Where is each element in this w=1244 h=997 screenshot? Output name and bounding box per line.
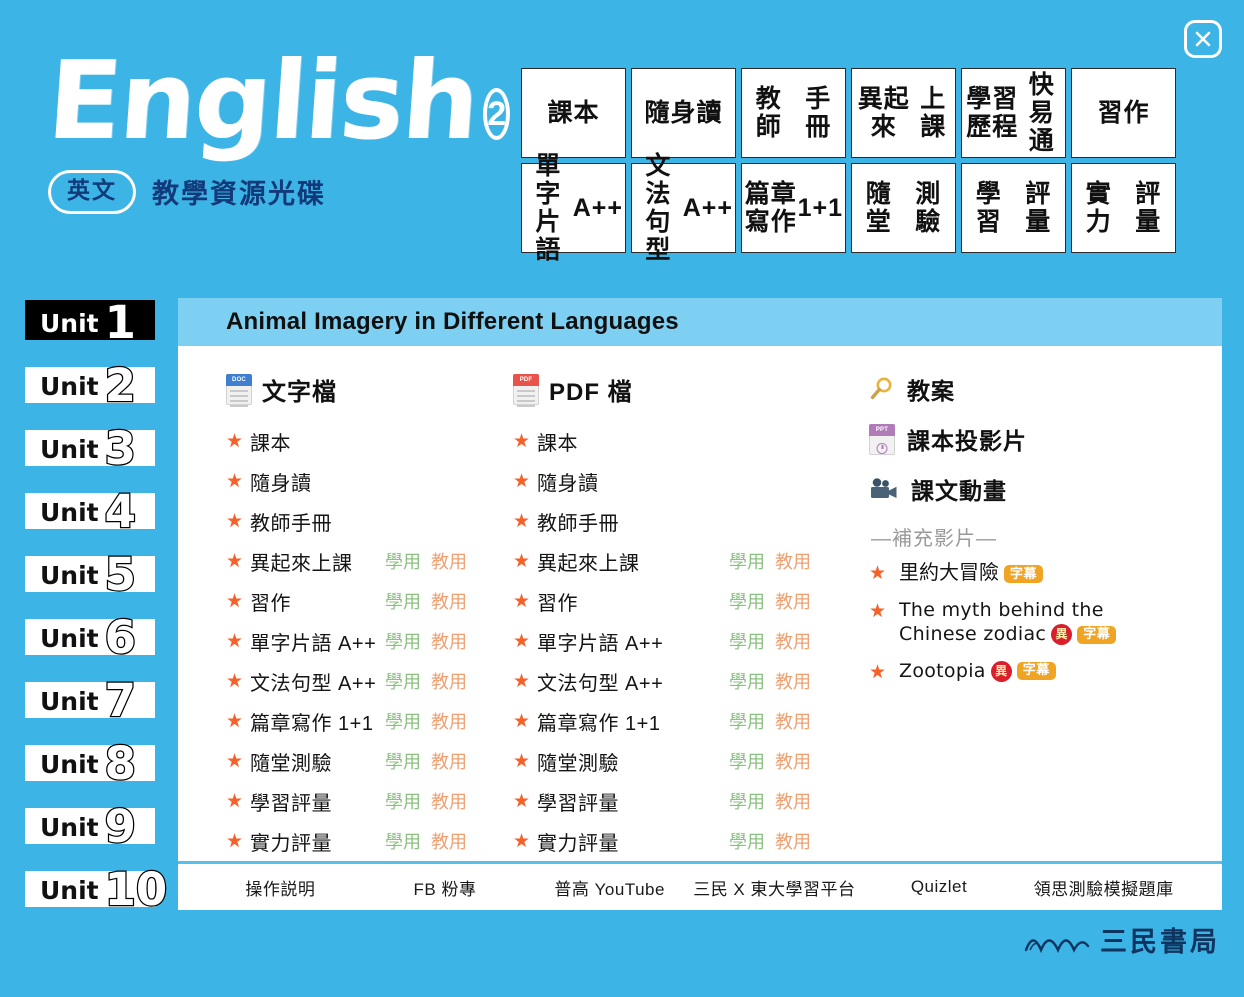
tag-teacher[interactable]: 教用	[775, 548, 811, 574]
nav-label-line: 學習歷程	[964, 85, 1021, 141]
unit-label: Unit	[40, 372, 99, 401]
nav-portable-read[interactable]: 隨身讀	[631, 68, 736, 158]
unit-number: 9	[105, 807, 136, 848]
nav-grammar[interactable]: 文法句型A++	[631, 163, 736, 253]
unit-number: 10	[105, 870, 168, 911]
list-item[interactable]: ★隨身讀	[226, 461, 503, 501]
star-icon: ★	[513, 552, 537, 571]
star-icon: ★	[226, 832, 250, 851]
list-item[interactable]: ★教師手冊	[226, 501, 503, 541]
lesson-plan-label: 教案	[907, 372, 955, 406]
content-panel: Animal Imagery in Different Languages DO…	[178, 298, 1222, 910]
row-tags: 學用教用	[729, 748, 841, 774]
nav-label-line: 快易通	[1021, 71, 1063, 155]
video-title: The myth behind the Chinese zodiac	[899, 599, 1104, 645]
nav-label-line: 隨身讀	[644, 99, 722, 127]
nav-label-line: 上課	[913, 85, 953, 141]
row-tags: 學用教用	[729, 708, 841, 734]
star-icon: ★	[869, 602, 889, 621]
tag-student[interactable]: 學用	[729, 748, 765, 774]
star-icon: ★	[513, 472, 537, 491]
unit-label: Unit	[40, 813, 99, 842]
unit-number: 8	[105, 744, 136, 785]
list-item-label: 隨身讀	[537, 467, 599, 496]
list-item[interactable]: ★隨身讀	[513, 461, 841, 501]
star-icon: ★	[226, 432, 250, 451]
close-icon	[1194, 30, 1212, 48]
close-button[interactable]	[1184, 20, 1222, 58]
unit-label: Unit	[40, 687, 99, 716]
lesson-plan-item[interactable]: 教案	[869, 372, 1222, 406]
nav-label-line: 評量	[1014, 180, 1064, 236]
list-item-label: 課本	[537, 427, 578, 456]
list-item-label: 隨堂測驗	[250, 747, 332, 776]
star-icon: ★	[869, 663, 889, 682]
doc-file-icon: DOC	[226, 374, 252, 405]
nav-learning-log[interactable]: 學習歷程快易通	[961, 68, 1066, 158]
footer-link[interactable]: 操作説明	[198, 875, 363, 900]
list-item-label: 篇章寫作 1+1	[250, 707, 373, 736]
nav-label-line: 評量	[1124, 180, 1174, 236]
nav-label-line: 測驗	[904, 180, 954, 236]
nav-quiz[interactable]: 隨堂測驗	[851, 163, 956, 253]
unit-number: 3	[105, 429, 136, 470]
unit-number: 7	[105, 681, 136, 722]
tag-student[interactable]: 學用	[385, 828, 421, 854]
unit-label: Unit	[40, 624, 99, 653]
tag-student[interactable]: 學用	[385, 668, 421, 694]
row-tags: 學用教用	[729, 548, 841, 574]
column-doc-title: 文字檔	[262, 372, 337, 407]
list-item[interactable]: ★學習評量學用教用	[226, 781, 503, 821]
nav-label-line: 手冊	[794, 85, 844, 141]
star-icon: ★	[513, 592, 537, 611]
video-list-item[interactable]: ★里約大冒險字幕	[869, 561, 1222, 586]
sidebar-item-unit-1[interactable]: Unit1	[0, 296, 180, 350]
star-icon: ★	[513, 432, 537, 451]
column-doc: DOC 文字檔 ★課本★隨身讀★教師手冊★異起來上課學用教用★習作學用教用★單字…	[178, 368, 503, 861]
list-item[interactable]: ★習作學用教用	[226, 581, 503, 621]
nav-label-line: A++	[573, 194, 623, 222]
footer-link[interactable]: 三民 X 東大學習平台	[692, 875, 857, 900]
badge-subtitle: 字幕	[1017, 662, 1056, 680]
list-item-label: 實力評量	[250, 827, 332, 856]
nav-label-line: 習作	[1097, 99, 1149, 127]
list-item-label: 文法句型 A++	[250, 667, 376, 696]
badge-subtitle: 字幕	[1077, 626, 1116, 644]
row-tags: 學用教用	[385, 588, 503, 614]
badge-subtitle: 字幕	[1004, 565, 1043, 583]
unit-number: 5	[105, 555, 136, 596]
row-tags: 學用教用	[729, 588, 841, 614]
list-item[interactable]: ★單字片語 A++學用教用	[513, 621, 841, 661]
row-tags: 學用教用	[385, 708, 503, 734]
tag-teacher[interactable]: 教用	[431, 668, 467, 694]
list-item[interactable]: ★文法句型 A++學用教用	[226, 661, 503, 701]
publisher-wave-icon	[1024, 927, 1092, 953]
badge-yi: 異	[991, 661, 1012, 682]
supplementary-video-divider: —補充影片—	[871, 522, 1222, 551]
row-tags: 學用教用	[729, 788, 841, 814]
row-tags: 學用教用	[385, 628, 503, 654]
list-item-label: 習作	[250, 587, 291, 616]
publisher-logo: 三民書局	[1024, 920, 1220, 959]
list-item[interactable]: ★教師手冊	[513, 501, 841, 541]
list-item-label: 隨身讀	[250, 467, 312, 496]
tag-teacher[interactable]: 教用	[775, 628, 811, 654]
tag-student[interactable]: 學用	[385, 628, 421, 654]
video-title-wrap: The myth behind the Chinese zodiac異字幕	[899, 599, 1149, 647]
panel-body: DOC 文字檔 ★課本★隨身讀★教師手冊★異起來上課學用教用★習作學用教用★單字…	[178, 346, 1222, 861]
slides-label: 課本投影片	[907, 422, 1027, 456]
star-icon: ★	[513, 792, 537, 811]
list-item[interactable]: ★隨堂測驗學用教用	[226, 741, 503, 781]
tag-student[interactable]: 學用	[729, 548, 765, 574]
list-item-label: 學習評量	[250, 787, 332, 816]
video-title: 里約大冒險	[899, 562, 999, 584]
nav-writing[interactable]: 篇章寫作1+1	[741, 163, 846, 253]
star-icon: ★	[226, 752, 250, 771]
list-item[interactable]: ★異起來上課學用教用	[226, 541, 503, 581]
list-item[interactable]: ★學習評量學用教用	[513, 781, 841, 821]
unit-number: 1	[105, 303, 136, 344]
tag-teacher[interactable]: 教用	[775, 748, 811, 774]
sidebar-item-unit-2[interactable]: Unit2	[0, 359, 180, 413]
nav-label-line: A++	[683, 194, 733, 222]
sidebar-item-unit-7[interactable]: Unit7	[0, 674, 180, 728]
nav-learn-assess[interactable]: 學習評量	[961, 163, 1066, 253]
list-item-label: 實力評量	[537, 827, 619, 856]
nav-label-line: 異起來	[854, 85, 913, 141]
nav-label-line: 教師	[744, 85, 794, 141]
nav-label-line: 文法句型	[634, 152, 683, 264]
list-item-label: 文法句型 A++	[537, 667, 663, 696]
video-list-item[interactable]: ★The myth behind the Chinese zodiac異字幕	[869, 599, 1222, 647]
unit-label: Unit	[40, 561, 99, 590]
list-item[interactable]: ★實力評量學用教用	[226, 821, 503, 861]
star-icon: ★	[513, 752, 537, 771]
nav-label-line: 1+1	[798, 194, 843, 222]
unit-label: Unit	[40, 498, 99, 527]
star-icon: ★	[513, 672, 537, 691]
video-list: ★里約大冒險字幕★The myth behind the Chinese zod…	[869, 561, 1222, 683]
pdf-row-list: ★課本★隨身讀★教師手冊★異起來上課學用教用★習作學用教用★單字片語 A++學用…	[513, 421, 841, 861]
row-tags: 學用教用	[385, 668, 503, 694]
star-icon: ★	[226, 672, 250, 691]
row-tags: 學用教用	[385, 548, 503, 574]
unit-label: Unit	[40, 309, 99, 338]
sidebar-item-unit-5[interactable]: Unit5	[0, 548, 180, 602]
footer-link[interactable]: Quizlet	[857, 877, 1022, 897]
tag-teacher[interactable]: 教用	[431, 548, 467, 574]
list-item-label: 學習評量	[537, 787, 619, 816]
row-tags: 學用教用	[385, 788, 503, 814]
video-list-item[interactable]: ★Zootopia異字幕	[869, 660, 1222, 684]
list-item[interactable]: ★隨堂測驗學用教用	[513, 741, 841, 781]
tag-student[interactable]: 學用	[729, 708, 765, 734]
footer-link[interactable]: 領思測驗模擬題庫	[1021, 875, 1186, 900]
video-title: Zootopia	[899, 660, 986, 682]
list-item[interactable]: ★篇章寫作 1+1學用教用	[513, 701, 841, 741]
panel-footer: 操作説明FB 粉專普高 YouTube三民 X 東大學習平台Quizlet領思測…	[178, 861, 1222, 910]
panel-header: Animal Imagery in Different Languages	[178, 298, 1222, 346]
nav-label-line: 篇章寫作	[744, 180, 798, 236]
list-item[interactable]: ★課本	[226, 421, 503, 461]
brand-volume-number: 2	[483, 88, 510, 140]
sidebar-item-unit-3[interactable]: Unit3	[0, 422, 180, 476]
star-icon: ★	[226, 712, 250, 731]
list-item-label: 習作	[537, 587, 578, 616]
column-extra: 教案 PPT 課本投影片 課文動畫	[841, 368, 1222, 861]
tag-student[interactable]: 學用	[729, 828, 765, 854]
star-icon: ★	[226, 632, 250, 651]
nav-power-assess[interactable]: 實力評量	[1071, 163, 1176, 253]
list-item-label: 教師手冊	[537, 507, 619, 536]
sidebar-item-unit-8[interactable]: Unit8	[0, 737, 180, 791]
row-tags: 學用教用	[729, 828, 841, 854]
nav-label-line: 學習	[964, 180, 1014, 236]
star-icon: ★	[513, 712, 537, 731]
nav-label-line: 單字片語	[524, 152, 573, 264]
nav-workbook[interactable]: 習作	[1071, 68, 1176, 158]
tag-student[interactable]: 學用	[729, 628, 765, 654]
row-tags: 學用教用	[385, 828, 503, 854]
unit-label: Unit	[40, 876, 99, 905]
sidebar-item-unit-4[interactable]: Unit4	[0, 485, 180, 539]
animation-item[interactable]: 課文動畫	[869, 472, 1222, 506]
list-item[interactable]: ★實力評量學用教用	[513, 821, 841, 861]
page-title: Animal Imagery in Different Languages	[226, 308, 679, 336]
star-icon: ★	[226, 792, 250, 811]
badge-yi: 異	[1051, 624, 1072, 645]
list-item[interactable]: ★文法句型 A++學用教用	[513, 661, 841, 701]
unit-number: 4	[105, 492, 136, 533]
nav-vocab-phrase[interactable]: 單字片語A++	[521, 163, 626, 253]
list-item[interactable]: ★異起來上課學用教用	[513, 541, 841, 581]
tag-teacher[interactable]: 教用	[775, 588, 811, 614]
video-camera-icon	[869, 477, 899, 501]
slides-item[interactable]: PPT 課本投影片	[869, 422, 1222, 456]
pdf-file-icon: PDF	[513, 374, 539, 405]
animation-label: 課文動畫	[911, 472, 1007, 506]
star-icon: ★	[226, 512, 250, 531]
nav-label-line: 實力	[1074, 180, 1124, 236]
tag-teacher[interactable]: 教用	[431, 588, 467, 614]
unit-number: 6	[105, 618, 136, 659]
publisher-name: 三民書局	[1100, 920, 1220, 959]
column-pdf-header: PDF PDF 檔	[513, 372, 841, 407]
ppt-file-icon: PPT	[869, 424, 895, 455]
sidebar-item-unit-9[interactable]: Unit9	[0, 800, 180, 854]
tag-teacher[interactable]: 教用	[431, 628, 467, 654]
nav-label-line: 隨堂	[854, 180, 904, 236]
tag-teacher[interactable]: 教用	[775, 708, 811, 734]
unit-label: Unit	[40, 750, 99, 779]
unit-label: Unit	[40, 435, 99, 464]
brand-block: English 2 英文 教學資源光碟	[48, 48, 508, 214]
list-item[interactable]: ★習作學用教用	[513, 581, 841, 621]
sidebar-item-unit-6[interactable]: Unit6	[0, 611, 180, 665]
unit-number: 2	[105, 366, 136, 407]
footer-link[interactable]: FB 粉專	[363, 875, 528, 900]
tag-teacher[interactable]: 教用	[431, 788, 467, 814]
list-item-label: 課本	[250, 427, 291, 456]
star-icon: ★	[513, 832, 537, 851]
nav-yi-class[interactable]: 異起來上課	[851, 68, 956, 158]
tag-teacher[interactable]: 教用	[431, 748, 467, 774]
magnifier-icon	[869, 376, 895, 402]
brand-subtitle: 教學資源光碟	[152, 172, 326, 211]
row-tags: 學用教用	[729, 668, 841, 694]
tag-student[interactable]: 學用	[385, 748, 421, 774]
tag-student[interactable]: 學用	[385, 548, 421, 574]
tag-student[interactable]: 學用	[385, 788, 421, 814]
subject-badge: 英文	[48, 170, 136, 214]
list-item-label: 異起來上課	[537, 547, 640, 576]
list-item-label: 教師手冊	[250, 507, 332, 536]
top-nav-grid: 課本隨身讀教師手冊異起來上課學習歷程快易通習作單字片語A++文法句型A++篇章寫…	[521, 68, 1176, 253]
row-tags: 學用教用	[385, 748, 503, 774]
tag-student[interactable]: 學用	[385, 588, 421, 614]
tag-teacher[interactable]: 教用	[431, 708, 467, 734]
list-item[interactable]: ★單字片語 A++學用教用	[226, 621, 503, 661]
brand-wordmark: English	[44, 48, 481, 156]
list-item[interactable]: ★篇章寫作 1+1學用教用	[226, 701, 503, 741]
list-item-label: 單字片語 A++	[250, 627, 376, 656]
tag-student[interactable]: 學用	[729, 588, 765, 614]
row-tags: 學用教用	[729, 628, 841, 654]
list-item[interactable]: ★課本	[513, 421, 841, 461]
list-item-label: 篇章寫作 1+1	[537, 707, 660, 736]
tag-teacher[interactable]: 教用	[775, 788, 811, 814]
video-title-wrap: 里約大冒險字幕	[899, 561, 1043, 586]
star-icon: ★	[226, 472, 250, 491]
list-item-label: 單字片語 A++	[537, 627, 663, 656]
star-icon: ★	[226, 552, 250, 571]
star-icon: ★	[513, 512, 537, 531]
doc-row-list: ★課本★隨身讀★教師手冊★異起來上課學用教用★習作學用教用★單字片語 A++學用…	[226, 421, 503, 861]
star-icon: ★	[869, 564, 889, 583]
column-pdf: PDF PDF 檔 ★課本★隨身讀★教師手冊★異起來上課學用教用★習作學用教用★…	[503, 368, 841, 861]
column-pdf-title: PDF 檔	[549, 372, 633, 407]
nav-textbook[interactable]: 課本	[521, 68, 626, 158]
star-icon: ★	[513, 632, 537, 651]
tag-teacher[interactable]: 教用	[775, 828, 811, 854]
nav-teacher-manual[interactable]: 教師手冊	[741, 68, 846, 158]
tag-student[interactable]: 學用	[385, 708, 421, 734]
footer-link[interactable]: 普高 YouTube	[527, 875, 692, 900]
tag-student[interactable]: 學用	[729, 668, 765, 694]
nav-label-line: 課本	[547, 99, 599, 127]
video-title-wrap: Zootopia異字幕	[899, 660, 1056, 684]
tag-student[interactable]: 學用	[729, 788, 765, 814]
star-icon: ★	[226, 592, 250, 611]
sidebar-item-unit-10[interactable]: Unit10	[0, 863, 180, 917]
column-doc-header: DOC 文字檔	[226, 372, 503, 407]
list-item-label: 隨堂測驗	[537, 747, 619, 776]
tag-teacher[interactable]: 教用	[431, 828, 467, 854]
unit-rail: Unit1Unit2Unit3Unit4Unit5Unit6Unit7Unit8…	[0, 296, 180, 926]
tag-teacher[interactable]: 教用	[775, 668, 811, 694]
list-item-label: 異起來上課	[250, 547, 353, 576]
